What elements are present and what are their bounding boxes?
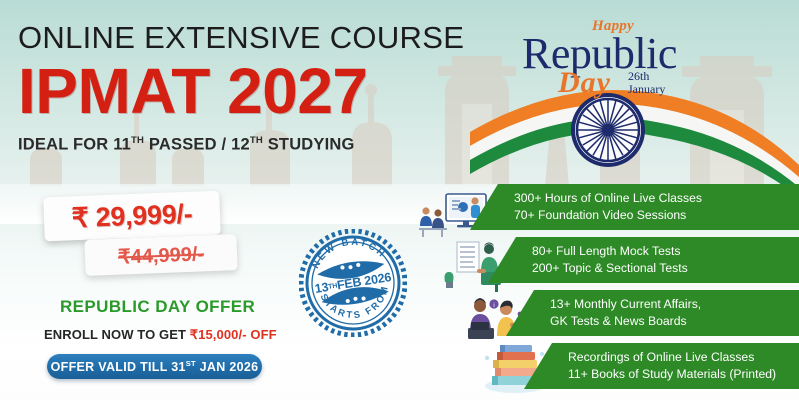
day-text: Day	[558, 68, 611, 98]
stamp-date-suffix: FEB 2026	[336, 270, 392, 292]
eligibility-sup-1: TH	[131, 135, 144, 146]
old-price-card: ₹44,999/-	[84, 234, 237, 276]
offer-title: REPUBLIC DAY OFFER	[60, 297, 255, 317]
republic-day-date: 26th January	[628, 70, 665, 96]
feature-line-2: 200+ Topic & Sectional Tests	[488, 260, 799, 277]
exam-title: IPMAT 2027	[18, 59, 488, 123]
feature-line-1: 13+ Monthly Current Affairs,	[506, 296, 799, 313]
eligibility-prefix: IDEAL FOR 11	[18, 135, 131, 153]
date-line-1: 26th	[628, 70, 665, 83]
feature-line-1: 80+ Full Length Mock Tests	[488, 243, 799, 260]
discount-amount: ₹15,000/- OFF	[190, 327, 277, 342]
old-price-value: ₹44,999/-	[117, 241, 204, 269]
new-price-card: ₹ 29,999/-	[43, 191, 221, 242]
validity-prefix: OFFER VALID TILL 31	[51, 360, 186, 374]
feature-bar: 80+ Full Length Mock Tests 200+ Topic & …	[488, 237, 799, 283]
eligibility-line: IDEAL FOR 11TH PASSED / 12TH STUDYING	[18, 135, 488, 155]
stamp-date-prefix: 13	[314, 280, 330, 296]
date-line-2: January	[628, 83, 665, 96]
feature-line-1: Recordings of Online Live Classes	[524, 349, 799, 366]
feature-line-1: 300+ Hours of Online Live Classes	[470, 190, 799, 207]
enroll-prefix: ENROLL NOW TO GET	[44, 327, 190, 342]
validity-text: OFFER VALID TILL 31ST JAN 2026	[51, 359, 259, 374]
feature-line-2: GK Tests & News Boards	[506, 313, 799, 330]
republic-day-lockup: Happy Republic Day 26th January	[520, 18, 760, 96]
new-batch-stamp: NEW BATCH STARTS FROM 13THFEB 2026	[299, 229, 407, 337]
ashoka-chakra-icon	[570, 92, 646, 168]
validity-sup: ST	[186, 359, 196, 368]
eligibility-sup-2: TH	[250, 135, 263, 146]
stamp-date-text: 13THFEB 2026	[291, 221, 415, 345]
promo-banner: ONLINE EXTENSIVE COURSE IPMAT 2027 IDEAL…	[0, 0, 799, 400]
eligibility-suffix: STUDYING	[263, 135, 355, 153]
offer-validity-badge[interactable]: OFFER VALID TILL 31ST JAN 2026	[47, 354, 262, 379]
headline-block: ONLINE EXTENSIVE COURSE IPMAT 2027 IDEAL…	[18, 22, 488, 154]
new-price-value: ₹ 29,999/-	[71, 198, 193, 234]
feature-bar: Recordings of Online Live Classes 11+ Bo…	[524, 343, 799, 389]
eligibility-mid: PASSED / 12	[144, 135, 250, 153]
feature-list: 300+ Hours of Online Live Classes 70+ Fo…	[470, 184, 799, 396]
feature-line-2: 11+ Books of Study Materials (Printed)	[524, 366, 799, 383]
course-label: ONLINE EXTENSIVE COURSE	[18, 22, 488, 55]
feature-bar: 13+ Monthly Current Affairs, GK Tests & …	[506, 290, 799, 336]
validity-suffix: JAN 2026	[196, 360, 258, 374]
feature-bar: 300+ Hours of Online Live Classes 70+ Fo…	[470, 184, 799, 230]
enroll-discount-line: ENROLL NOW TO GET ₹15,000/- OFF	[44, 327, 277, 343]
feature-line-2: 70+ Foundation Video Sessions	[470, 207, 799, 224]
